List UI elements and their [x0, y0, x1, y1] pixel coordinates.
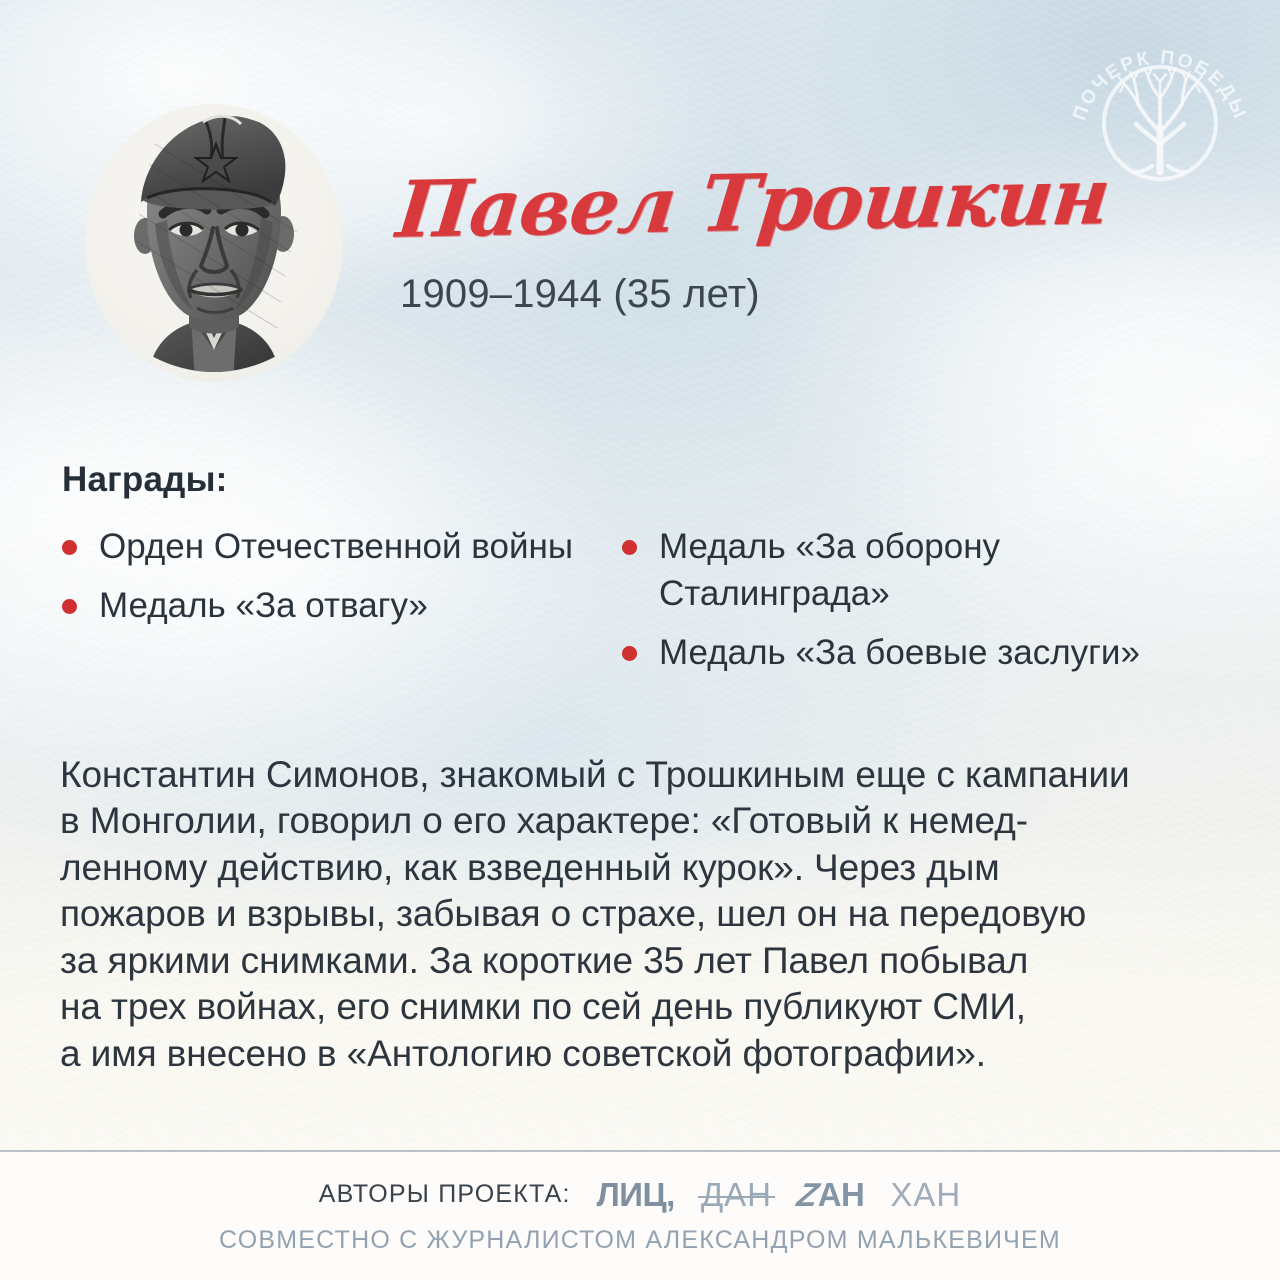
body-line: Константин Симонов, знакомый с Трошкиным…: [60, 752, 1250, 798]
brand-logo-han: ХАН: [890, 1178, 961, 1211]
tree-icon: [1118, 68, 1202, 172]
awards-list: Орден Отечественной войны Медаль «За отв…: [62, 524, 1232, 689]
soldier-portrait-sketch-icon: [85, 104, 343, 382]
brand-logo-zan: ZАН: [798, 1178, 864, 1211]
award-label: Медаль «За отвагу»: [99, 583, 428, 630]
list-item: Медаль «За оборону Сталинграда»: [622, 524, 1232, 618]
list-item: Медаль «За отвагу»: [62, 583, 622, 630]
portrait: [85, 104, 343, 382]
poster-card: ПОЧЕРК ПОБЕДЫ: [0, 0, 1280, 1280]
lifespan-text: 1909–1944 (35 лет): [400, 272, 760, 317]
bullet-icon: [622, 540, 637, 555]
list-item: Медаль «За боевые заслуги»: [622, 630, 1232, 677]
award-label: Орден Отечественной войны: [99, 524, 573, 571]
awards-column-right: Медаль «За оборону Сталинграда» Медаль «…: [622, 524, 1232, 689]
biography-text: Константин Симонов, знакомый с Трошкиным…: [60, 752, 1250, 1077]
awards-heading: Награды:: [62, 460, 228, 500]
brand-logo-lits: ЛИЦ,: [597, 1178, 675, 1211]
body-line: в Монголии, говорил о его характере: «Го…: [60, 798, 1250, 844]
bullet-icon: [62, 599, 77, 614]
footer: АВТОРЫ ПРОЕКТА: ЛИЦ, ДАН ZАН ХАН СОВМЕСТ…: [0, 1152, 1280, 1280]
footer-authors-row: АВТОРЫ ПРОЕКТА: ЛИЦ, ДАН ZАН ХАН: [0, 1178, 1280, 1211]
body-line: а имя внесено в «Антологию советской фот…: [60, 1031, 1250, 1077]
body-line: пожаров и взрывы, забывая о страхе, шел …: [60, 891, 1250, 937]
footer-subtitle: СОВМЕСТНО С ЖУРНАЛИСТОМ АЛЕКСАНДРОМ МАЛЬ…: [0, 1226, 1280, 1255]
bullet-icon: [622, 646, 637, 661]
bullet-icon: [62, 540, 77, 555]
body-line: за яркими снимками. За короткие 35 лет П…: [60, 938, 1250, 984]
list-item: Орден Отечественной войны: [62, 524, 622, 571]
body-line: на трех войнах, его снимки по сей день п…: [60, 984, 1250, 1030]
awards-column-left: Орден Отечественной войны Медаль «За отв…: [62, 524, 622, 689]
authors-label: АВТОРЫ ПРОЕКТА:: [319, 1180, 571, 1209]
brand-logo-dan: ДАН: [701, 1178, 772, 1211]
body-line: ленному действию, как взведенный курок».…: [60, 845, 1250, 891]
award-label: Медаль «За оборону Сталинграда»: [659, 524, 1219, 618]
brand-zan-an: АН: [818, 1176, 865, 1213]
award-label: Медаль «За боевые заслуги»: [659, 630, 1140, 677]
page-title: Павел Трошкин: [393, 151, 1114, 256]
